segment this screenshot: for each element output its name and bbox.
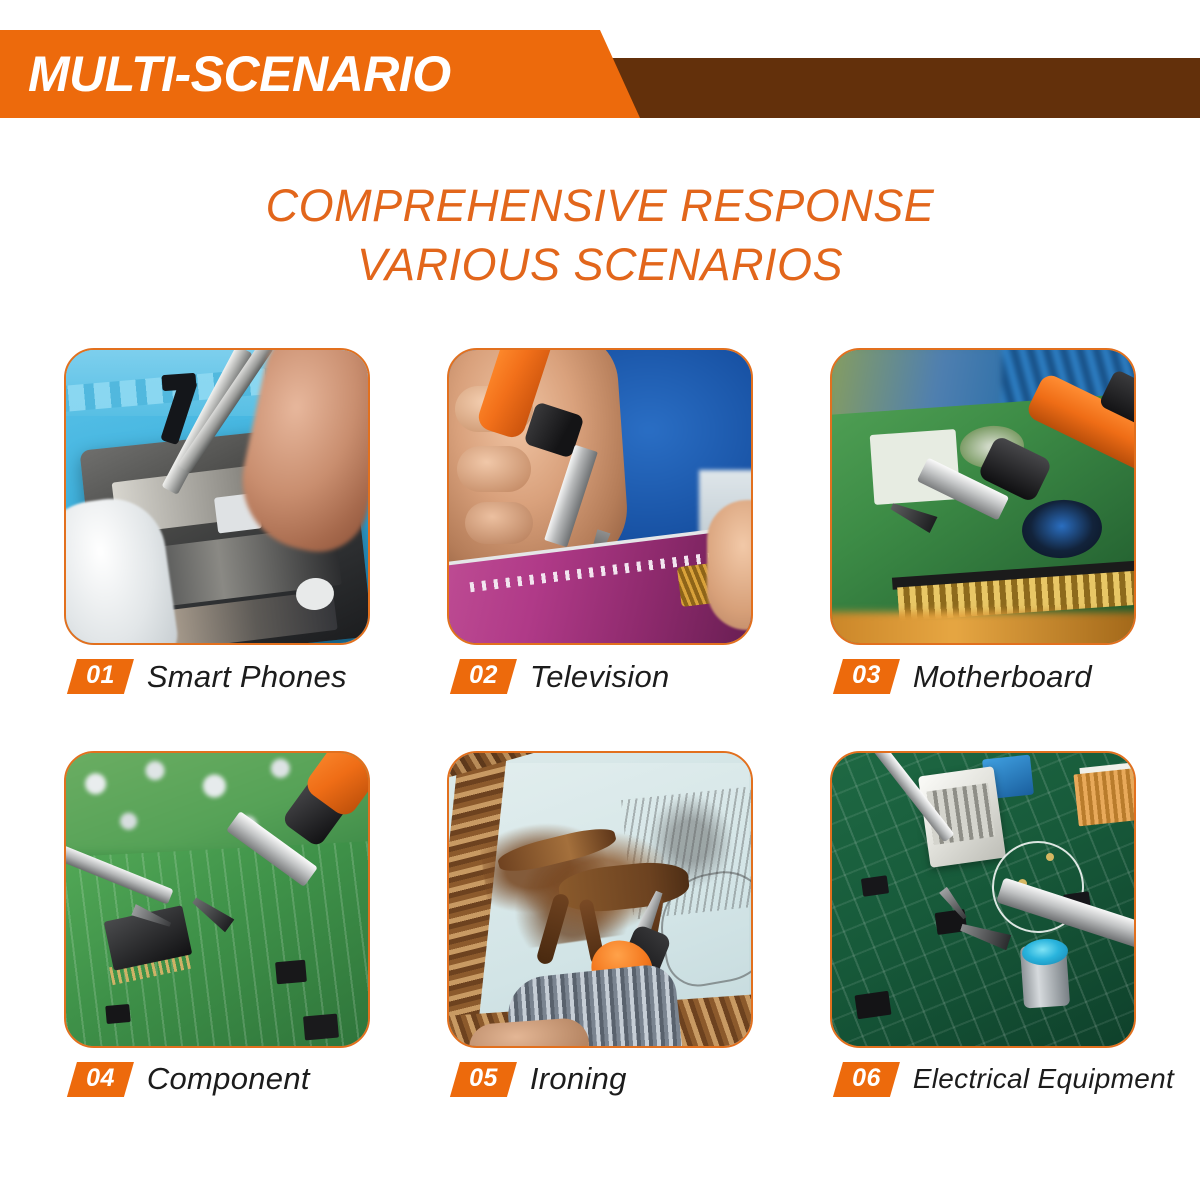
headline-line-2: VARIOUS SCENARIOS [0,235,1200,294]
scenario-card-motherboard: 03 Motherboard [830,348,1136,694]
scenario-number-badge-06: 06 [833,1062,900,1097]
scenario-card-smart-phones: 01 Smart Phones [64,348,370,694]
scenario-number-badge-05: 05 [450,1062,517,1097]
headline-line-1: COMPREHENSIVE RESPONSE [0,176,1200,235]
scenario-grid: 01 Smart Phones [64,348,1136,1096]
scenario-caption-ironing: 05 Ironing [447,1062,753,1097]
scenario-caption-component: 04 Component [64,1062,370,1097]
scenario-label-motherboard: Motherboard [913,661,1092,692]
photo-electrical-equipment-image [832,753,1134,1046]
scenario-photo-component [64,751,370,1048]
scenario-card-electrical-equipment: 06 Electrical Equipment [830,751,1136,1097]
scenario-number-06: 06 [852,1065,881,1093]
scenario-card-television: 02 Television [447,348,753,694]
photo-motherboard-image [832,350,1134,643]
scenario-card-component: 04 Component [64,751,370,1097]
photo-smart-phones-image [66,350,368,643]
banner-orange-shape: MULTI-SCENARIO [0,30,640,118]
scenario-number-04: 04 [86,1065,115,1093]
scenario-label-component: Component [147,1063,310,1094]
scenario-label-smart-phones: Smart Phones [147,661,347,692]
scenario-label-television: Television [530,661,670,692]
scenario-photo-motherboard [830,348,1136,645]
banner-title: MULTI-SCENARIO [0,49,451,99]
scenario-number-01: 01 [86,662,115,690]
scenario-photo-ironing [447,751,753,1048]
photo-ironing-image [449,753,751,1046]
photo-television-image [449,350,751,643]
multi-scenario-page: MULTI-SCENARIO COMPREHENSIVE RESPONSE VA… [0,0,1200,1200]
scenario-number-badge-04: 04 [67,1062,134,1097]
scenario-caption-electrical-equipment: 06 Electrical Equipment [830,1062,1136,1097]
scenario-caption-television: 02 Television [447,659,753,694]
page-headline: COMPREHENSIVE RESPONSE VARIOUS SCENARIOS [0,176,1200,295]
photo-component-image [66,753,368,1046]
scenario-number-badge-01: 01 [67,659,134,694]
scenario-card-ironing: 05 Ironing [447,751,753,1097]
top-banner: MULTI-SCENARIO [0,0,1200,130]
scenario-photo-television [447,348,753,645]
scenario-number-02: 02 [469,662,498,690]
scenario-label-electrical-equipment: Electrical Equipment [913,1065,1174,1093]
scenario-caption-smart-phones: 01 Smart Phones [64,659,370,694]
scenario-caption-motherboard: 03 Motherboard [830,659,1136,694]
scenario-number-badge-03: 03 [833,659,900,694]
scenario-number-badge-02: 02 [450,659,517,694]
scenario-label-ironing: Ironing [530,1063,627,1094]
scenario-number-05: 05 [469,1065,498,1093]
scenario-photo-smart-phones [64,348,370,645]
scenario-number-03: 03 [852,662,881,690]
scenario-photo-electrical-equipment [830,751,1136,1048]
